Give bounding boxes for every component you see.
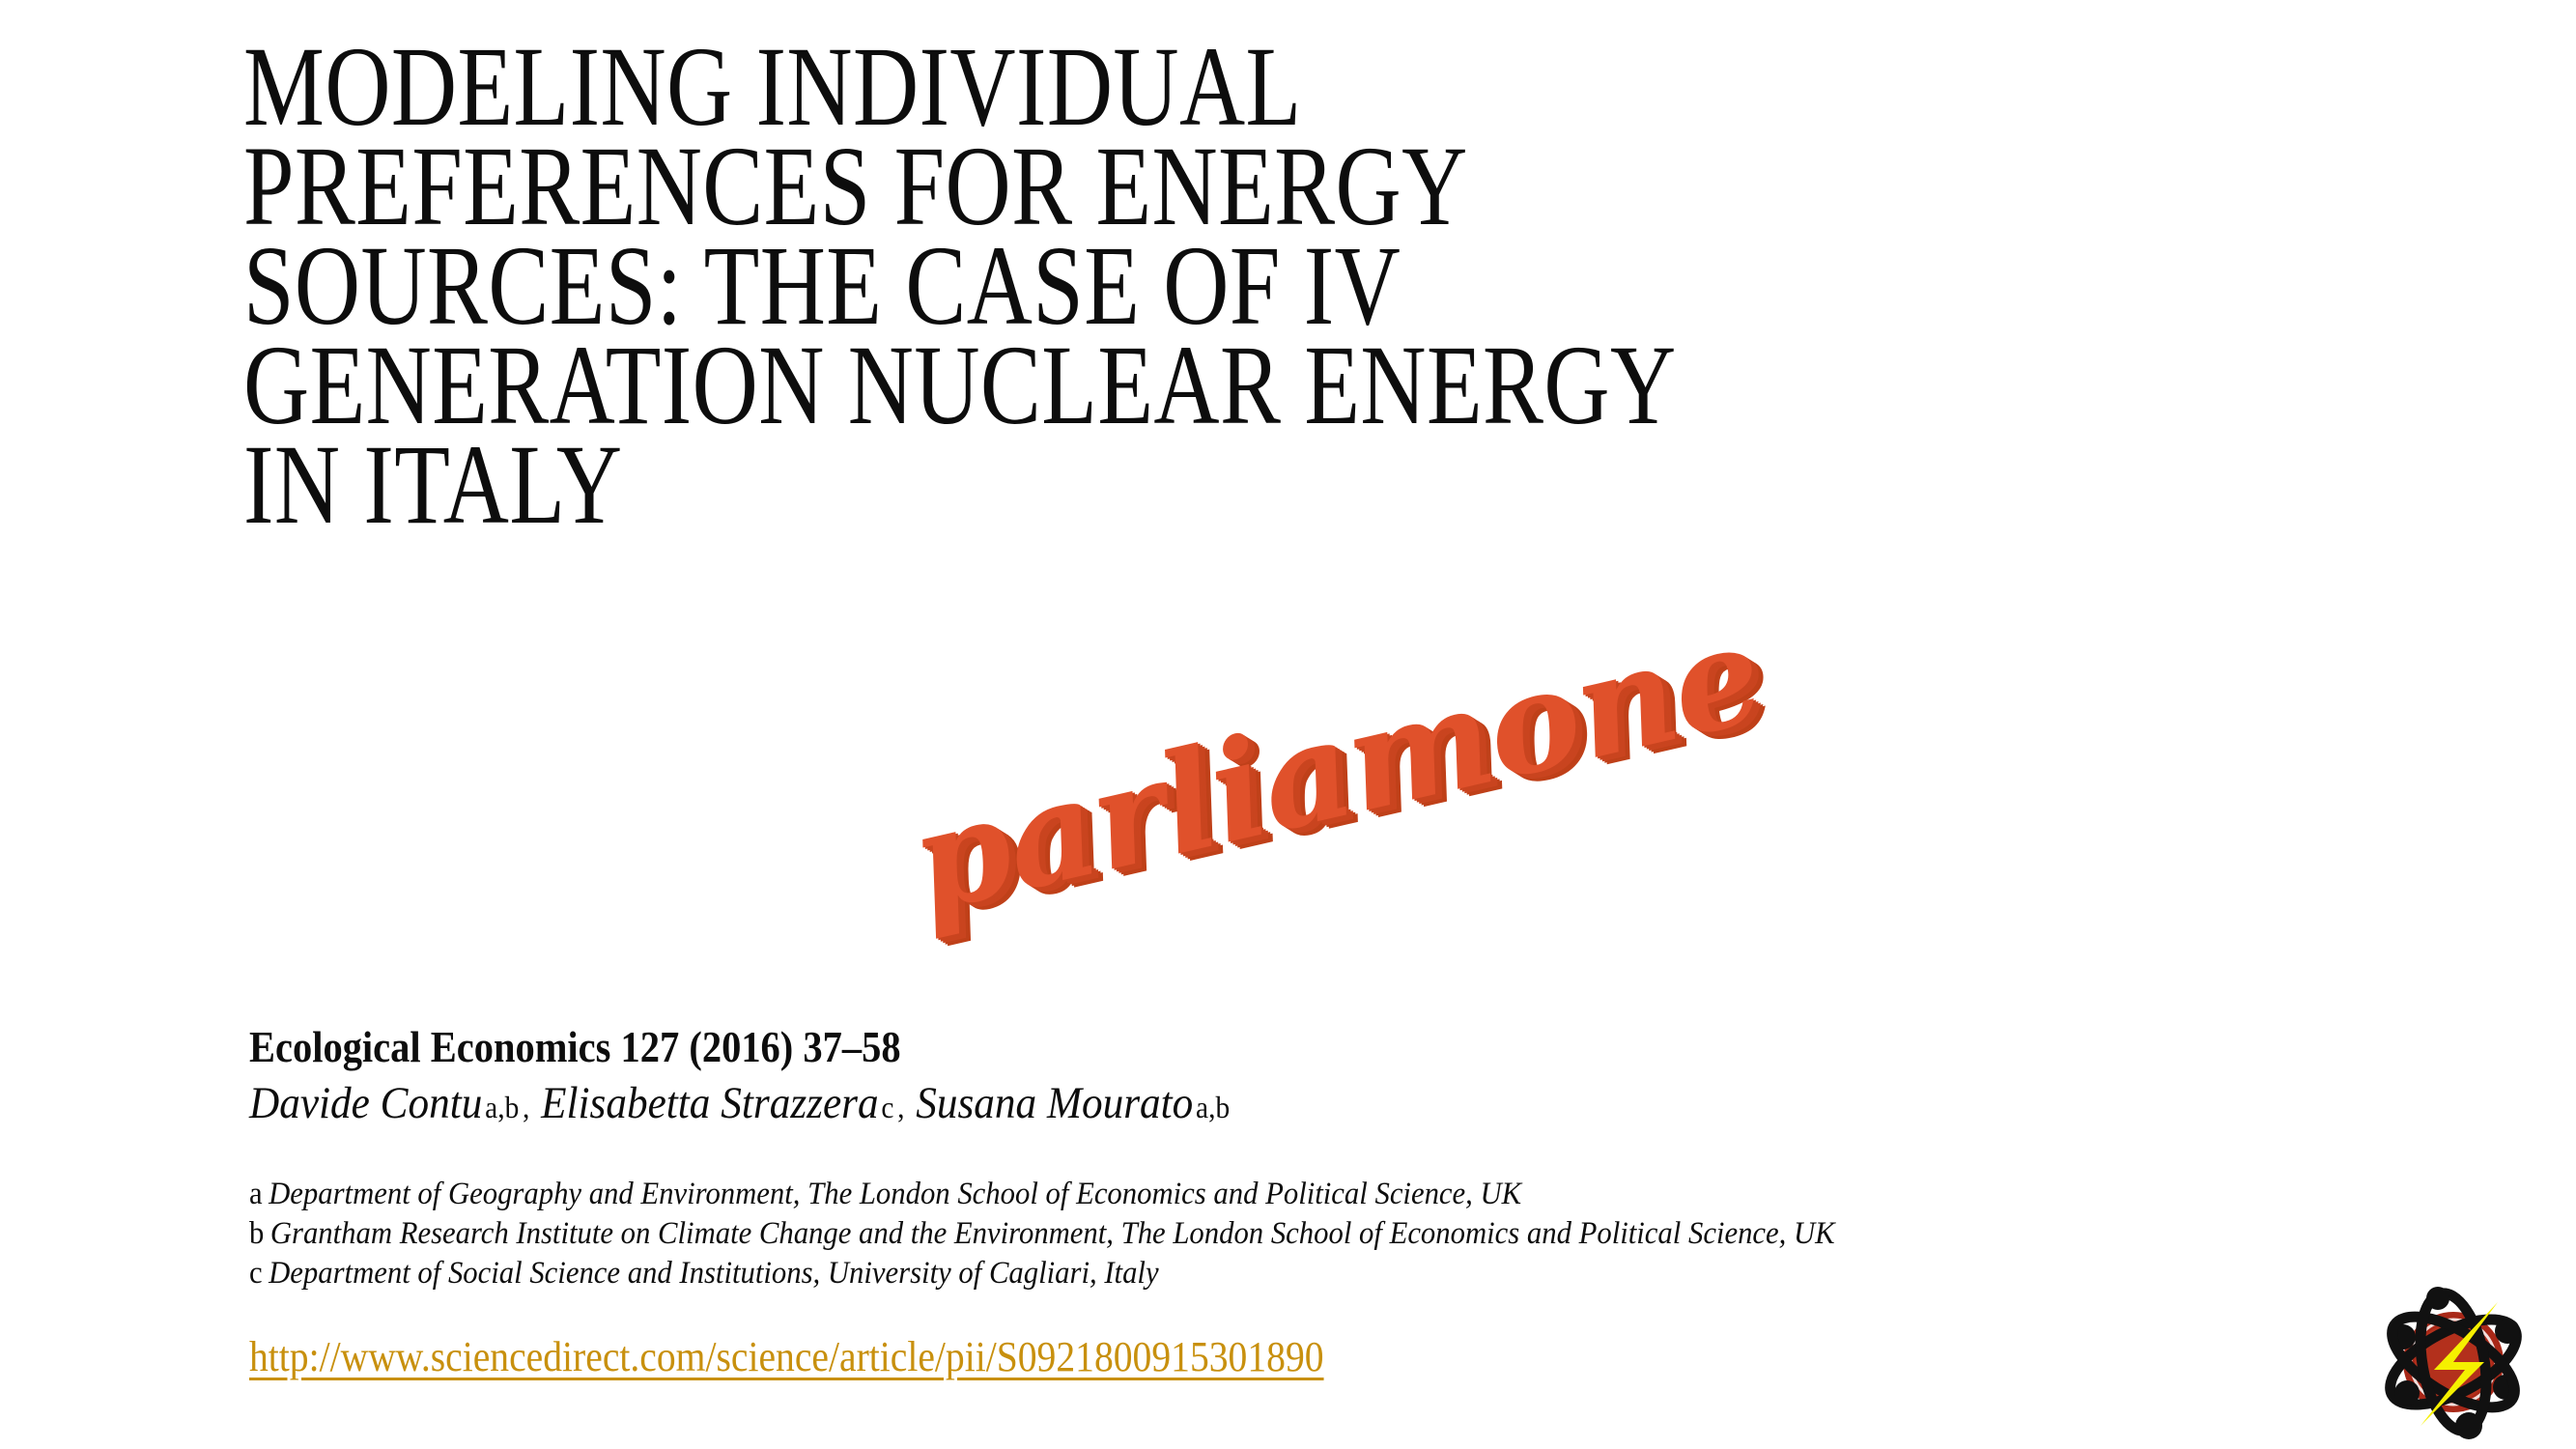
- citation-block: Ecological Economics 127 (2016) 37–58 Da…: [249, 1022, 2374, 1134]
- affiliation-a-key: a: [249, 1177, 269, 1211]
- affiliation-b: bGrantham Research Institute on Climate …: [249, 1214, 2315, 1254]
- title-line-1: MODELING INDIVIDUAL: [243, 37, 2021, 136]
- author-marks-3: a,b: [1193, 1090, 1231, 1124]
- author-name-2: Elisabetta Strazzera: [541, 1078, 879, 1128]
- title-line-5: IN ITALY: [243, 435, 2021, 534]
- affiliation-a-text: Department of Geography and Environment,…: [269, 1177, 1521, 1211]
- title-line-3: SOURCES: THE CASE OF IV: [243, 236, 2021, 335]
- atom-energy-logo: [2364, 1281, 2544, 1447]
- title-line-4: GENERATION NUCLEAR ENERGY: [243, 335, 2021, 435]
- affiliation-a: aDepartment of Geography and Environment…: [249, 1175, 2315, 1214]
- affiliation-b-key: b: [249, 1216, 270, 1251]
- author-name-3: Susana Mourato: [916, 1078, 1193, 1128]
- accent-word-container: parliamone: [916, 749, 1727, 980]
- author-name-1: Davide Contu: [249, 1078, 482, 1128]
- page-title: MODELING INDIVIDUAL PREFERENCES FOR ENER…: [243, 37, 2465, 534]
- affiliation-c-text: Department of Social Science and Institu…: [269, 1256, 1158, 1291]
- author-separator-2: ,: [894, 1090, 905, 1124]
- journal-reference: Ecological Economics 127 (2016) 37–58: [249, 1022, 2119, 1072]
- affiliation-c-key: c: [249, 1256, 269, 1291]
- authors-line: Davide Contua,b, Elisabetta Strazzerac, …: [249, 1076, 2204, 1134]
- author-marks-1: a,b: [482, 1090, 520, 1124]
- affiliation-b-text: Grantham Research Institute on Climate C…: [270, 1216, 1835, 1251]
- accent-word-parliamone: parliamone: [897, 593, 1775, 944]
- title-slide: MODELING INDIVIDUAL PREFERENCES FOR ENER…: [0, 0, 2576, 1449]
- author-separator-1: ,: [520, 1090, 530, 1124]
- author-marks-2: c: [879, 1090, 895, 1124]
- article-url-link[interactable]: http://www.sciencedirect.com/science/art…: [249, 1333, 1324, 1381]
- affiliation-c: cDepartment of Social Science and Instit…: [249, 1254, 2315, 1293]
- affiliations-block: aDepartment of Geography and Environment…: [249, 1175, 2471, 1293]
- title-line-2: PREFERENCES FOR ENERGY: [243, 136, 2021, 236]
